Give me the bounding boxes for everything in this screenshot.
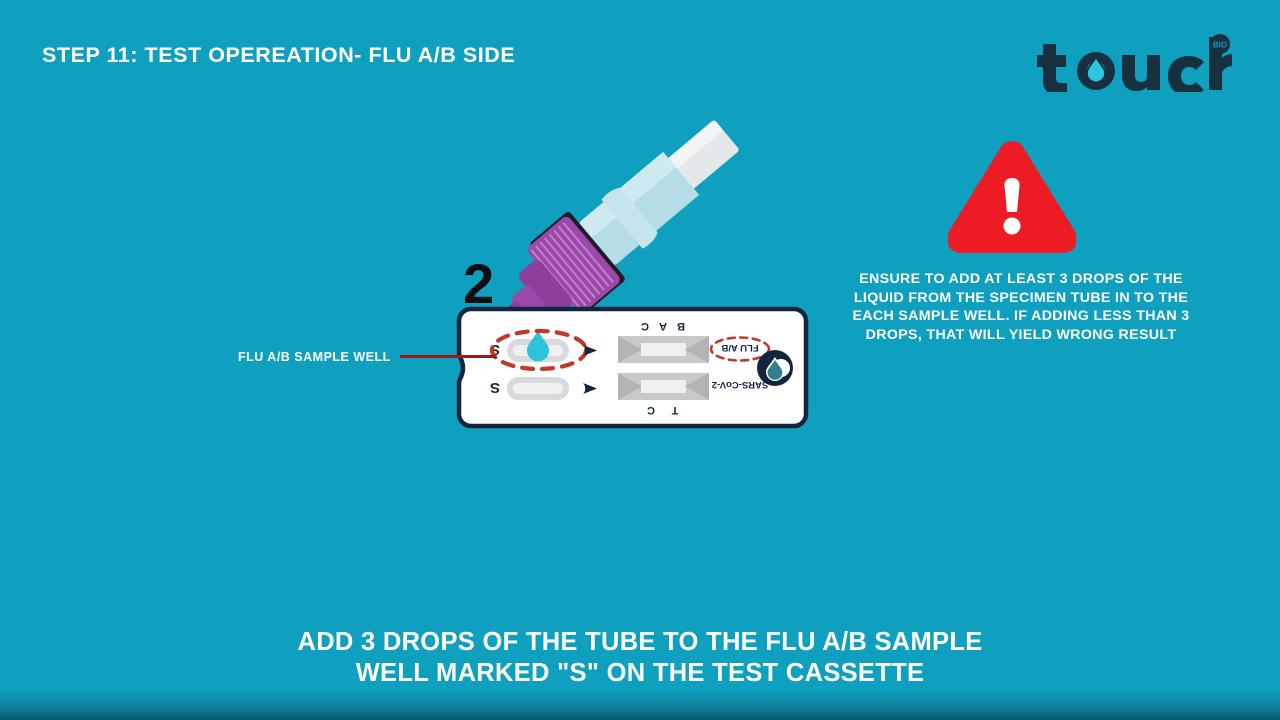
logo-superscript: BIO [1213, 41, 1227, 50]
touch-bio-logo: BIO [1037, 34, 1232, 90]
mark-t: T [671, 404, 678, 416]
specimen-tube [495, 80, 795, 330]
mark-b: B [677, 320, 685, 332]
flu-test-label: FLU A/B [721, 342, 758, 353]
mark-c-covid: C [647, 404, 655, 416]
test-cassette: S S [455, 305, 810, 430]
warning-text: ENSURE TO ADD AT LEAST 3 DROPS OF THE LI… [836, 270, 1206, 344]
covid-sample-well [507, 377, 569, 400]
slide-canvas: STEP 11: TEST OPEREATION- FLU A/B SIDE B… [0, 0, 1280, 720]
caption-line-2: WELL MARKED "S" ON THE TEST CASSETTE [0, 658, 1280, 689]
bottom-vignette [0, 690, 1280, 720]
step-number: 2 [463, 256, 493, 312]
callout-leader-line [400, 355, 496, 358]
covid-test-label: SARS-CoV-2 [712, 379, 768, 390]
warning-triangle-icon [948, 140, 1076, 256]
flu-result-window [618, 336, 709, 363]
touch-bio-circle-icon [757, 350, 793, 386]
caption-line-1: ADD 3 DROPS OF THE TUBE TO THE FLU A/B S… [0, 627, 1280, 658]
mark-a: A [659, 320, 667, 332]
page-title: STEP 11: TEST OPEREATION- FLU A/B SIDE [42, 43, 515, 68]
well-label-s-covid: S [490, 379, 500, 396]
callout-label: FLU A/B SAMPLE WELL [238, 350, 391, 364]
mark-c-flu: C [641, 320, 649, 332]
slide-caption: ADD 3 DROPS OF THE TUBE TO THE FLU A/B S… [0, 627, 1280, 689]
covid-result-window [618, 373, 709, 400]
